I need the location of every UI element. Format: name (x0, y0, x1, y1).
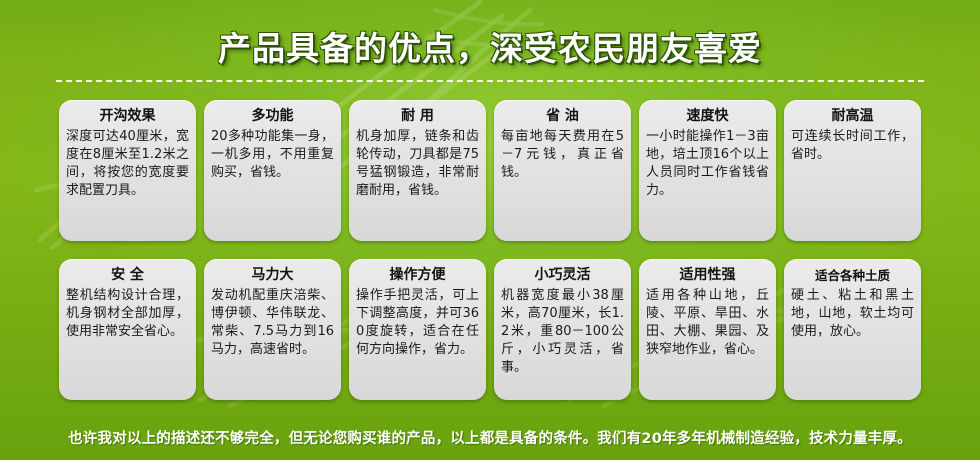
feature-card: 耐 用 机身加厚，链条和齿轮传动，刀具都是75号猛钢锻造，非常耐磨耐用，省钱。 (349, 100, 486, 241)
page-title: 产品具备的优点，深受农民朋友喜爱 (0, 22, 980, 70)
feature-row-1: 开沟效果 深度可达40厘米，宽度在8厘米至1.2米之间，将按您的宽度要求配置刀具… (0, 100, 980, 250)
feature-card: 操作方便 操作手把灵活，可上下调整高度，并可360度旋转，适合在任何方向操作，省… (349, 259, 486, 400)
feature-card-body: 操作手把灵活，可上下调整高度，并可360度旋转，适合在任何方向操作，省力。 (356, 287, 479, 359)
feature-card-grid: 开沟效果 深度可达40厘米，宽度在8厘米至1.2米之间，将按您的宽度要求配置刀具… (0, 100, 980, 409)
feature-card-body: 每亩地每天费用在5－7元钱，真正省钱。 (501, 128, 624, 182)
feature-card: 安 全 整机结构设计合理，机身钢材全部加厚，使用非常安全省心。 (59, 259, 196, 400)
feature-card-body: 20多种功能集一身，一机多用，不用重复购买，省钱。 (211, 128, 334, 182)
feature-card-title: 速度快 (646, 108, 769, 125)
feature-card-body: 硬土、粘土和黑土地，山地，软土均可使用，放心。 (791, 287, 914, 341)
feature-card-title: 耐 用 (356, 108, 479, 125)
feature-card-body: 深度可达40厘米，宽度在8厘米至1.2米之间，将按您的宽度要求配置刀具。 (66, 128, 189, 200)
feature-card-body: 可连续长时间工作，省时。 (791, 128, 914, 164)
feature-card-title: 适用性强 (646, 267, 769, 284)
feature-card: 开沟效果 深度可达40厘米，宽度在8厘米至1.2米之间，将按您的宽度要求配置刀具… (59, 100, 196, 241)
feature-card: 适合各种土质 硬土、粘土和黑土地，山地，软土均可使用，放心。 (784, 259, 921, 400)
footer-text: 也许我对以上的描述还不够完全，但无论您购买谁的产品，以上都是具备的条件。我们有2… (68, 427, 912, 448)
feature-card-body: 机身加厚，链条和齿轮传动，刀具都是75号猛钢锻造，非常耐磨耐用，省钱。 (356, 128, 479, 200)
feature-card-title: 耐高温 (791, 108, 914, 125)
poster-footer: 也许我对以上的描述还不够完全，但无论您购买谁的产品，以上都是具备的条件。我们有2… (0, 414, 980, 460)
feature-card: 速度快 一小时能操作1－3亩地，培土顶16个以上人员同时工作省钱省力。 (639, 100, 776, 241)
poster-header: 产品具备的优点，深受农民朋友喜爱 (0, 0, 980, 96)
feature-card-title: 马力大 (211, 267, 334, 284)
feature-card-title: 操作方便 (356, 267, 479, 284)
feature-card-title: 多功能 (211, 108, 334, 125)
feature-card-title: 安 全 (66, 267, 189, 284)
feature-row-2: 安 全 整机结构设计合理，机身钢材全部加厚，使用非常安全省心。 马力大 发动机配… (0, 259, 980, 409)
feature-card: 小巧灵活 机器宽度最小38厘米，高70厘米，长1.2米，重80－100公斤，小巧… (494, 259, 631, 400)
feature-card-body: 整机结构设计合理，机身钢材全部加厚，使用非常安全省心。 (66, 287, 189, 341)
feature-card: 耐高温 可连续长时间工作，省时。 (784, 100, 921, 241)
feature-card: 省 油 每亩地每天费用在5－7元钱，真正省钱。 (494, 100, 631, 241)
feature-card: 多功能 20多种功能集一身，一机多用，不用重复购买，省钱。 (204, 100, 341, 241)
feature-card-title: 适合各种土质 (791, 267, 914, 284)
feature-card-body: 机器宽度最小38厘米，高70厘米，长1.2米，重80－100公斤，小巧灵活，省事… (501, 287, 624, 377)
feature-card-body: 发动机配重庆涪柴、博伊顿、华伟联龙、常柴、7.5马力到16马力，高速省时。 (211, 287, 334, 359)
feature-card-body: 一小时能操作1－3亩地，培土顶16个以上人员同时工作省钱省力。 (646, 128, 769, 200)
promo-poster: 产品具备的优点，深受农民朋友喜爱 开沟效果 深度可达40厘米，宽度在8厘米至1.… (0, 0, 980, 460)
feature-card-title: 小巧灵活 (501, 267, 624, 284)
feature-card: 马力大 发动机配重庆涪柴、博伊顿、华伟联龙、常柴、7.5马力到16马力，高速省时… (204, 259, 341, 400)
feature-card-body: 适用各种山地，丘陵、平原、旱田、水田、大棚、果园、及狭窄地作业，省心。 (646, 287, 769, 359)
feature-card: 适用性强 适用各种山地，丘陵、平原、旱田、水田、大棚、果园、及狭窄地作业，省心。 (639, 259, 776, 400)
feature-card-title: 省 油 (501, 108, 624, 125)
feature-card-title: 开沟效果 (66, 108, 189, 125)
header-divider (56, 80, 924, 82)
